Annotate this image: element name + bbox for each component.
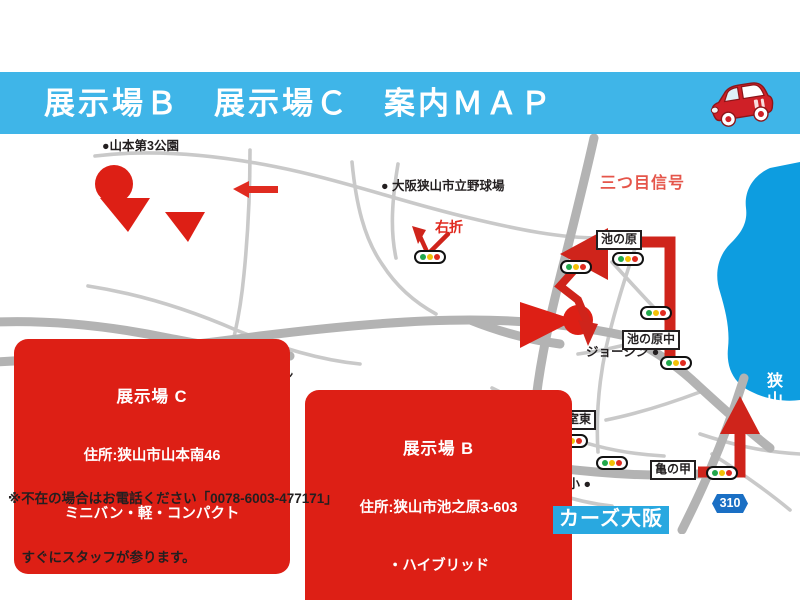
footer-note-line-1: ※不在の場合はお電話ください「0078-6003-477171」 — [8, 489, 338, 509]
traffic-signal — [596, 456, 628, 475]
intersection-ikenoharanaka: 池の原中 — [622, 330, 680, 350]
direction-note-turn-right: 右折 — [435, 220, 463, 234]
poi-label-baseball-stadium: ● 大阪狭山市立野球場 — [381, 180, 505, 193]
traffic-signal — [414, 250, 446, 269]
route-shield-310-number: 310 — [720, 496, 741, 510]
traffic-signal — [706, 466, 738, 485]
intersection-kamenoko: 亀の甲 — [650, 460, 696, 480]
route-shield-310: 310 — [712, 494, 748, 513]
header-banner: 展示場Ｂ 展示場Ｃ 案内ＭＡＰ — [0, 72, 800, 134]
intersection-line-1: 池の原 — [601, 233, 637, 247]
showroom-c-pointer — [95, 165, 205, 242]
footer-note-line-2: すぐにスタッフが参ります。 — [8, 548, 338, 568]
showroom-b-title: 展示場 B — [311, 439, 566, 461]
traffic-signal — [560, 260, 592, 279]
footer-notes: ※不在の場合はお電話ください「0078-6003-477171」 すぐにスタッフ… — [8, 450, 338, 600]
showroom-c-title: 展示場 C — [20, 387, 284, 409]
traffic-signal — [612, 252, 644, 271]
direction-note-third-signal: 三つ目信号 — [600, 176, 685, 192]
red-car-icon — [706, 78, 776, 128]
traffic-signal — [640, 306, 672, 325]
lake-sayamaike — [717, 162, 800, 401]
lake-label-sayamaike: 狭山池 — [764, 372, 780, 429]
intersection-ikenohara: 池の原 — [596, 230, 642, 250]
carz-osaka-label[interactable]: カーズ大阪 — [553, 506, 669, 534]
intersection-line-1: 亀の甲 — [655, 463, 691, 477]
showroom-b-type-1: ・ハイブリッド — [311, 557, 566, 576]
showroom-b-address: 住所:狭山市池之原3-603 — [311, 499, 566, 518]
map-page: 展示場Ｂ 展示場Ｃ 案内ＭＡＰ — [0, 0, 800, 600]
intersection-line-1: 池の原中 — [627, 333, 675, 347]
page-title: 展示場Ｂ 展示場Ｃ 案内ＭＡＰ — [44, 88, 554, 119]
small-left-arrow-icon — [233, 181, 278, 198]
showroom-b-callout[interactable]: 展示場 B 住所:狭山市池之原3-603 ・ハイブリッド ・セダン ・SUV ・… — [305, 390, 572, 600]
poi-label-yamamoto-park: ●山本第3公園 — [102, 140, 179, 153]
traffic-signal — [660, 356, 692, 375]
